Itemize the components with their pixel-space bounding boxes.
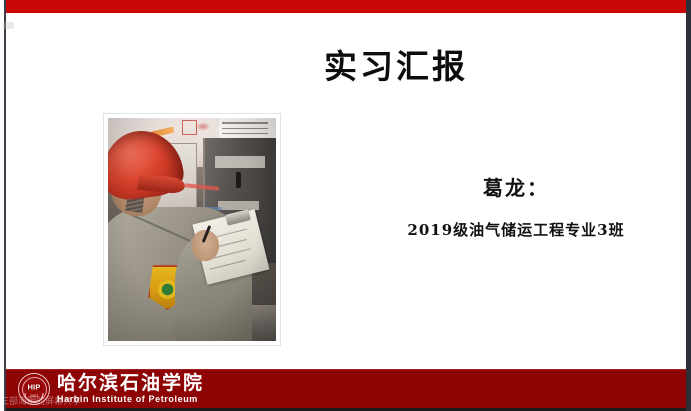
presentation-slide: 实习汇报 — [6, 0, 686, 411]
window-edge-right — [686, 0, 691, 411]
window-control-chip[interactable] — [3, 22, 14, 29]
page-title: 实习汇报 — [186, 48, 606, 86]
slide-footer-bar: HIP 2003 哈尔滨石油学院 Harbin Institute of Pet… — [6, 369, 686, 408]
institution-name-cn: 哈尔滨石油学院 — [57, 374, 204, 393]
slide-photo — [104, 114, 280, 345]
photo-vignette — [108, 118, 276, 341]
slide-top-accent-bar — [6, 0, 686, 13]
seal-initials: HIP — [26, 383, 42, 391]
screen-share-viewport: 实习汇报 — [0, 0, 691, 411]
photo-image — [108, 118, 276, 341]
presenter-name: 葛龙： — [366, 172, 666, 201]
window-edge-left — [4, 0, 6, 411]
presenter-class: 2019级油气储运工程专业3班 — [366, 219, 666, 240]
screen-share-label: 三部海明的屏幕共享 — [0, 394, 81, 407]
